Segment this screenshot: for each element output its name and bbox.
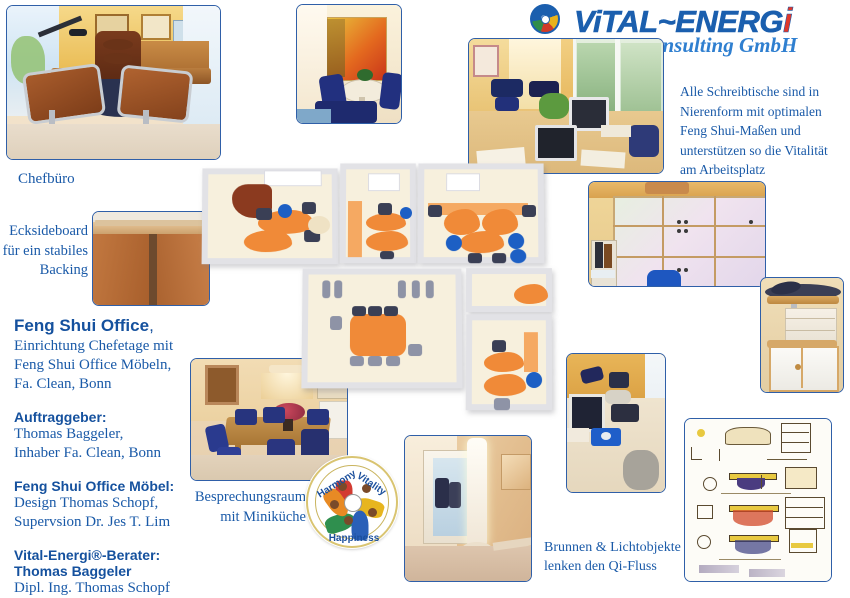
logo-head-4 <box>344 516 353 525</box>
logo-center-pin <box>344 494 362 512</box>
info-title-lines: Einrichtung Chefetage mit Feng Shui Offi… <box>14 337 194 394</box>
logo-word-happiness: Happiness <box>329 533 380 544</box>
caption-chefbuero: Chefbüro <box>18 170 75 188</box>
photo-pedestal <box>760 277 844 393</box>
photo-lounge <box>296 4 402 124</box>
photo-sketches <box>684 418 832 582</box>
photo-corridor <box>404 435 532 582</box>
info-auftraggeber-label: Auftraggeber: <box>14 409 194 425</box>
info-block: Feng Shui Office, Einrichtung Chefetage … <box>14 316 194 598</box>
floorplan-room-lounge <box>466 268 552 312</box>
floorplan-room-office-2 <box>340 163 417 263</box>
photo-desk-detail <box>566 353 666 493</box>
info-title-text: Feng Shui Office <box>14 316 149 335</box>
logo-head-3 <box>368 508 377 517</box>
caption-ecksideboard: Ecksideboard für ein stabiles Backing <box>2 222 88 281</box>
photo-cabinets <box>588 181 766 287</box>
info-title: Feng Shui Office, <box>14 316 194 336</box>
logo-head-5 <box>330 500 339 509</box>
photo-workplace <box>468 38 664 174</box>
info-moebel-label: Feng Shui Office Möbel: <box>14 478 194 494</box>
floorplan-room-office-4 <box>466 314 553 410</box>
info-auftraggeber-lines: Thomas Baggeler, Inhaber Fa. Clean, Bonn <box>14 425 194 463</box>
info-berater-label: Vital-Energi®-Berater: <box>14 547 194 563</box>
caption-besprechungsraum: Besprechungsraum mit Miniküche <box>188 487 306 527</box>
info-title-comma: , <box>149 316 154 335</box>
vital-energi-circle-logo-icon <box>530 4 560 34</box>
office-floorplan-illustration <box>198 160 568 450</box>
caption-schreibtische: Alle Schreibtische sind in Nierenform mi… <box>680 82 850 180</box>
floorplan-room-office-3 <box>418 163 545 263</box>
info-moebel-lines: Design Thomas Schopf, Supervsion Dr. Jes… <box>14 494 194 532</box>
floorplan-room-office-1 <box>202 168 339 264</box>
info-berater-bold: Thomas Baggeler <box>14 563 194 579</box>
floorplan-conference-table <box>350 314 406 356</box>
photo-sideboard <box>92 211 210 306</box>
floorplan-room-conference <box>301 269 462 389</box>
info-berater-line: Dipl. Ing. Thomas Schopf <box>14 579 194 598</box>
harmony-vitality-happiness-logo: Harmony Vitality Happiness <box>306 456 398 548</box>
photo-chefbuero <box>6 5 221 160</box>
